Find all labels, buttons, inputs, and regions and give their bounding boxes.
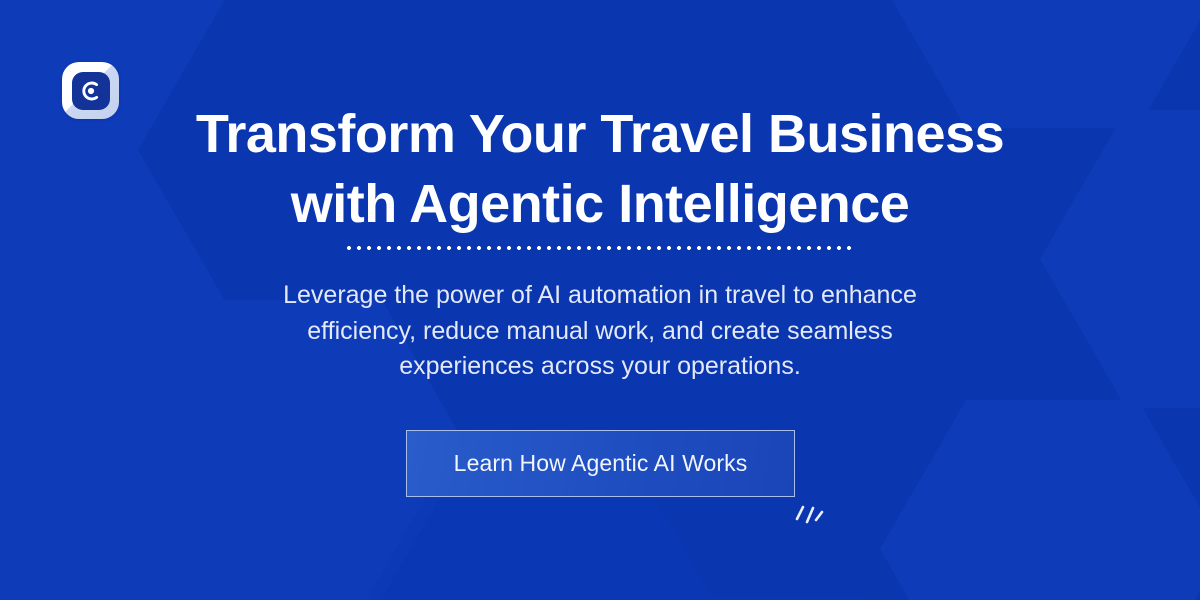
headline-line-1: Transform Your Travel Business [70,99,1130,169]
subtitle-line-3: experiences across your operations. [190,349,1010,385]
hero-content: Transform Your Travel Business with Agen… [0,0,1200,600]
subtitle-line-2: efficiency, reduce manual work, and crea… [190,314,1010,350]
cta-container: Learn How Agentic AI Works [406,430,795,497]
headline-line-2: with Agentic Intelligence [70,169,1130,239]
dotted-underline-decoration [344,245,856,251]
click-sparkle-icon [791,498,831,538]
subtitle-line-1: Leverage the power of AI automation in t… [190,278,1010,314]
hero-subtitle: Leverage the power of AI automation in t… [190,278,1010,385]
learn-how-agentic-ai-works-button[interactable]: Learn How Agentic AI Works [406,430,795,497]
page-title: Transform Your Travel Business with Agen… [70,0,1130,239]
headline-line-2-text: with Agentic Intelligence [291,174,910,234]
hero-banner: Transform Your Travel Business with Agen… [0,0,1200,600]
